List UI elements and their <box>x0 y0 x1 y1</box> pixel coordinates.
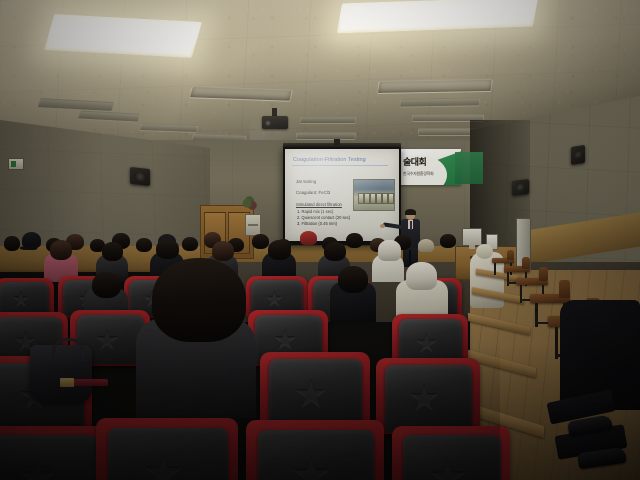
presenter-hand <box>380 224 385 228</box>
audience-head <box>268 240 291 260</box>
right-wall-speaker-upper <box>571 145 585 165</box>
auditorium-seat-front[interactable]: ★ <box>246 420 384 480</box>
foreground-attendee-head <box>152 258 246 342</box>
conference-banner: 술대회 한국수자원환경학회 <box>399 149 461 185</box>
ceiling-light-on-left <box>44 14 202 58</box>
audience-head-cap <box>418 239 434 252</box>
presenter-tie <box>410 221 412 230</box>
audience-head <box>324 242 346 261</box>
audience-head <box>156 239 179 259</box>
audience-head <box>4 236 20 251</box>
audience-head <box>92 272 121 298</box>
exit-sign <box>8 158 24 170</box>
audience-head-red-cap <box>300 231 317 245</box>
lecture-hall-photo: 술대회 한국수자원환경학회 Coagulation-Filtration Tes… <box>0 0 640 480</box>
audience-head <box>346 233 363 248</box>
audience-head <box>212 241 234 261</box>
auditorium-seat-front[interactable]: ★ <box>96 418 238 480</box>
auditorium-seat-front[interactable]: ★ <box>0 426 106 480</box>
projector-mount <box>272 108 277 116</box>
audience-head <box>136 238 152 252</box>
auditorium-seat[interactable]: ★ <box>376 358 480 434</box>
audience-head <box>338 266 368 293</box>
banner-text: 술대회 <box>403 158 426 167</box>
screen-mount <box>334 139 340 145</box>
plant-decoration <box>240 196 258 212</box>
ceiling-light-off-9 <box>399 97 480 107</box>
handbag-strap <box>72 379 108 386</box>
auditorium-seat-front[interactable]: ★ <box>392 426 510 480</box>
handbag-clasp <box>60 378 74 387</box>
audience-head <box>440 234 456 248</box>
audience-head <box>182 237 198 251</box>
audience-head-hijab <box>378 240 401 261</box>
banner-subtext: 한국수자원환경학회 <box>403 171 433 177</box>
green-wall-strip <box>455 152 483 184</box>
audience-head <box>50 240 72 260</box>
audience-head-cap <box>22 232 41 248</box>
right-wall-speaker <box>512 179 529 196</box>
left-wall-speaker <box>130 167 150 186</box>
presenter-hair <box>405 209 416 215</box>
audience-head <box>102 242 123 261</box>
handbag-handle <box>52 338 84 361</box>
audience-head-hijab <box>406 262 437 290</box>
audience-head <box>252 234 269 249</box>
ceiling-light-off-2 <box>377 79 493 94</box>
